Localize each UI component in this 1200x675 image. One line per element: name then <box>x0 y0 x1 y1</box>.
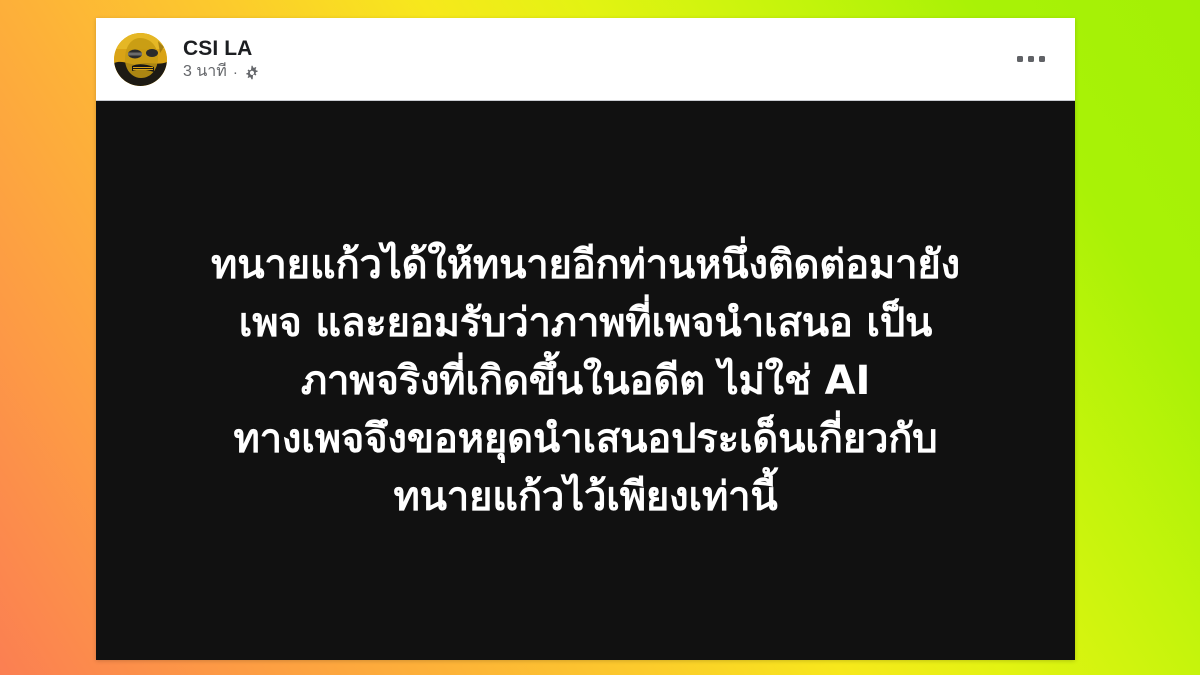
ellipsis-dot <box>1017 56 1023 62</box>
post-body: ทนายแก้วได้ให้ทนายอีกท่านหนึ่งติดต่อมายั… <box>96 100 1075 660</box>
ellipsis-dot <box>1039 56 1045 62</box>
ellipsis-dot <box>1028 56 1034 62</box>
facebook-post-card: CSI LA 3 นาที · ทนายแก้วได้ให้ทนายอีกท่า… <box>96 18 1075 660</box>
gear-icon[interactable] <box>244 65 259 80</box>
more-options-button[interactable] <box>1009 48 1053 70</box>
post-message-text: ทนายแก้วได้ให้ทนายอีกท่านหนึ่งติดต่อมายั… <box>211 236 960 526</box>
post-timestamp[interactable]: 3 นาที <box>183 63 227 81</box>
avatar[interactable] <box>114 33 167 86</box>
meta-separator-dot: · <box>233 65 238 80</box>
post-meta: 3 นาที · <box>183 63 259 81</box>
post-author-block: CSI LA 3 นาที · <box>183 37 259 81</box>
post-header: CSI LA 3 นาที · <box>96 18 1075 100</box>
page-name[interactable]: CSI LA <box>183 37 259 60</box>
